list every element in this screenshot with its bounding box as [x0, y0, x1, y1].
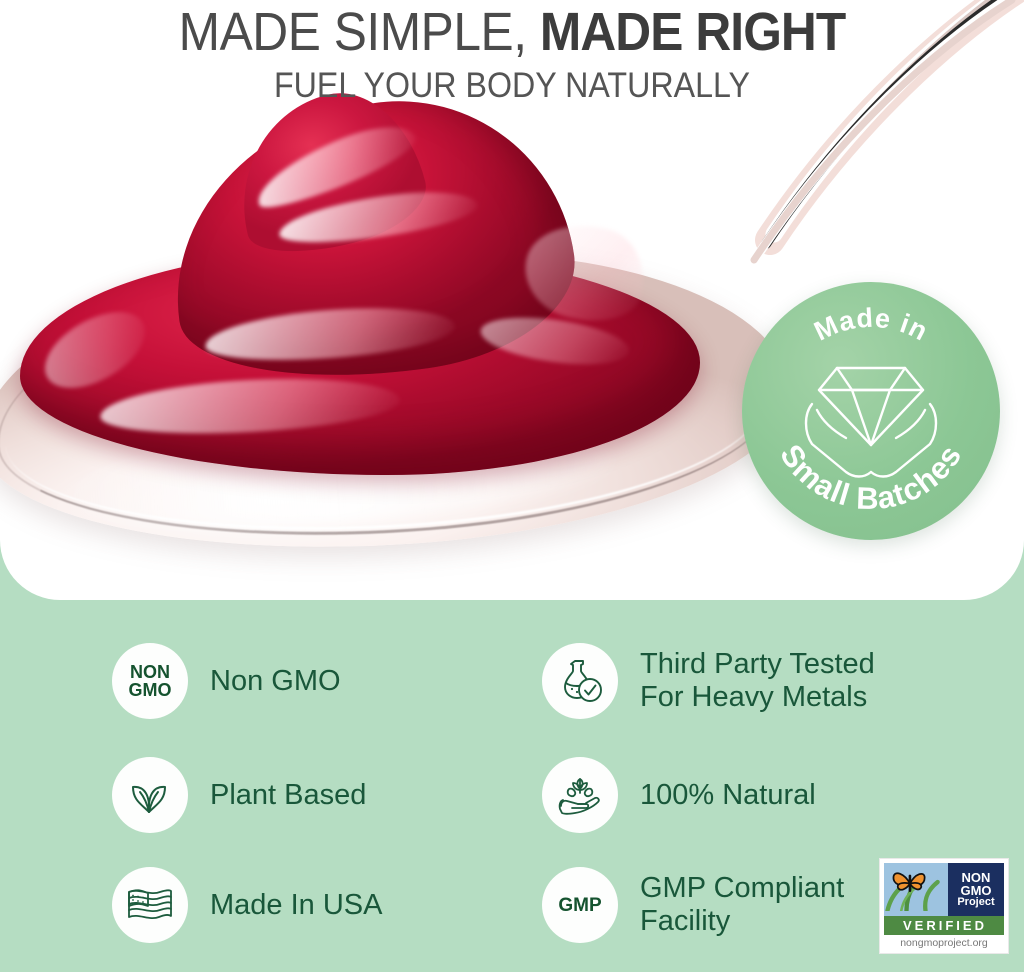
logo-verified-bar: VERIFIED: [884, 916, 1004, 935]
logo-brand-block: NON GMO Project: [948, 863, 1004, 916]
feature-made-in-usa: Made In USA: [112, 862, 382, 948]
flask-checkmark-glyph: [556, 657, 604, 705]
two-leaves-glyph: [127, 772, 173, 818]
flask-checkmark-icon: [542, 643, 618, 719]
badge-graphic: Made in Small Batches: [742, 282, 1000, 540]
headline-light-part: MADE SIMPLE,: [179, 2, 540, 62]
non-gmo-project-verified-logo: NON GMO Project VERIFIED nongmoproject.o…: [879, 858, 1009, 954]
badge-top-text: Made in: [809, 303, 933, 347]
logo-sky-panel: [884, 863, 948, 916]
non-gmo-text-icon: NON GMO: [112, 643, 188, 719]
made-in-small-batches-badge: Made in Small Batches: [742, 282, 1000, 540]
badge-bottom-text: Small Batches: [773, 438, 969, 516]
gmp-text-icon: GMP: [542, 867, 618, 943]
badge-bottom-textpath: Small Batches: [773, 438, 969, 516]
usa-flag-glyph: [126, 885, 174, 925]
usa-flag-icon: [112, 867, 188, 943]
gmp-icon-text: GMP: [558, 896, 601, 915]
logo-url: nongmoproject.org: [884, 935, 1004, 949]
feature-label-plant-based: Plant Based: [210, 779, 366, 812]
feature-label-made-in-usa: Made In USA: [210, 889, 382, 922]
feature-label-third-party-tested: Third Party Tested For Heavy Metals: [640, 648, 875, 714]
feature-non-gmo: NON GMO Non GMO: [112, 638, 341, 724]
diamond-in-hands-icon: [806, 368, 936, 477]
feature-gmp-compliant: GMP GMP Compliant Facility: [542, 862, 844, 948]
feature-label-gmp-compliant: GMP Compliant Facility: [640, 872, 844, 938]
feature-plant-based: Plant Based: [112, 752, 366, 838]
butterfly-icon: [893, 873, 924, 890]
logo-artwork: NON GMO Project: [884, 863, 1004, 916]
non-gmo-line1: NON: [129, 663, 172, 681]
features-panel: NON GMO Non GMO Plant Based: [0, 600, 1024, 972]
non-gmo-icon-text: NON GMO: [129, 663, 172, 699]
butterfly-and-grass-graphic: [884, 863, 948, 911]
hand-with-plant-glyph: [555, 772, 605, 818]
non-gmo-line2: GMO: [129, 681, 172, 699]
hand-with-plant-icon: [542, 757, 618, 833]
red-gel-product: [20, 105, 700, 475]
feature-label-100-natural: 100% Natural: [640, 779, 816, 812]
feature-label-non-gmo: Non GMO: [210, 665, 341, 698]
logo-brand-line3: Project: [957, 897, 994, 908]
badge-top-textpath: Made in: [809, 303, 933, 347]
feature-third-party-tested: Third Party Tested For Heavy Metals: [542, 638, 875, 724]
two-leaves-icon: [112, 757, 188, 833]
feature-100-natural: 100% Natural: [542, 752, 816, 838]
